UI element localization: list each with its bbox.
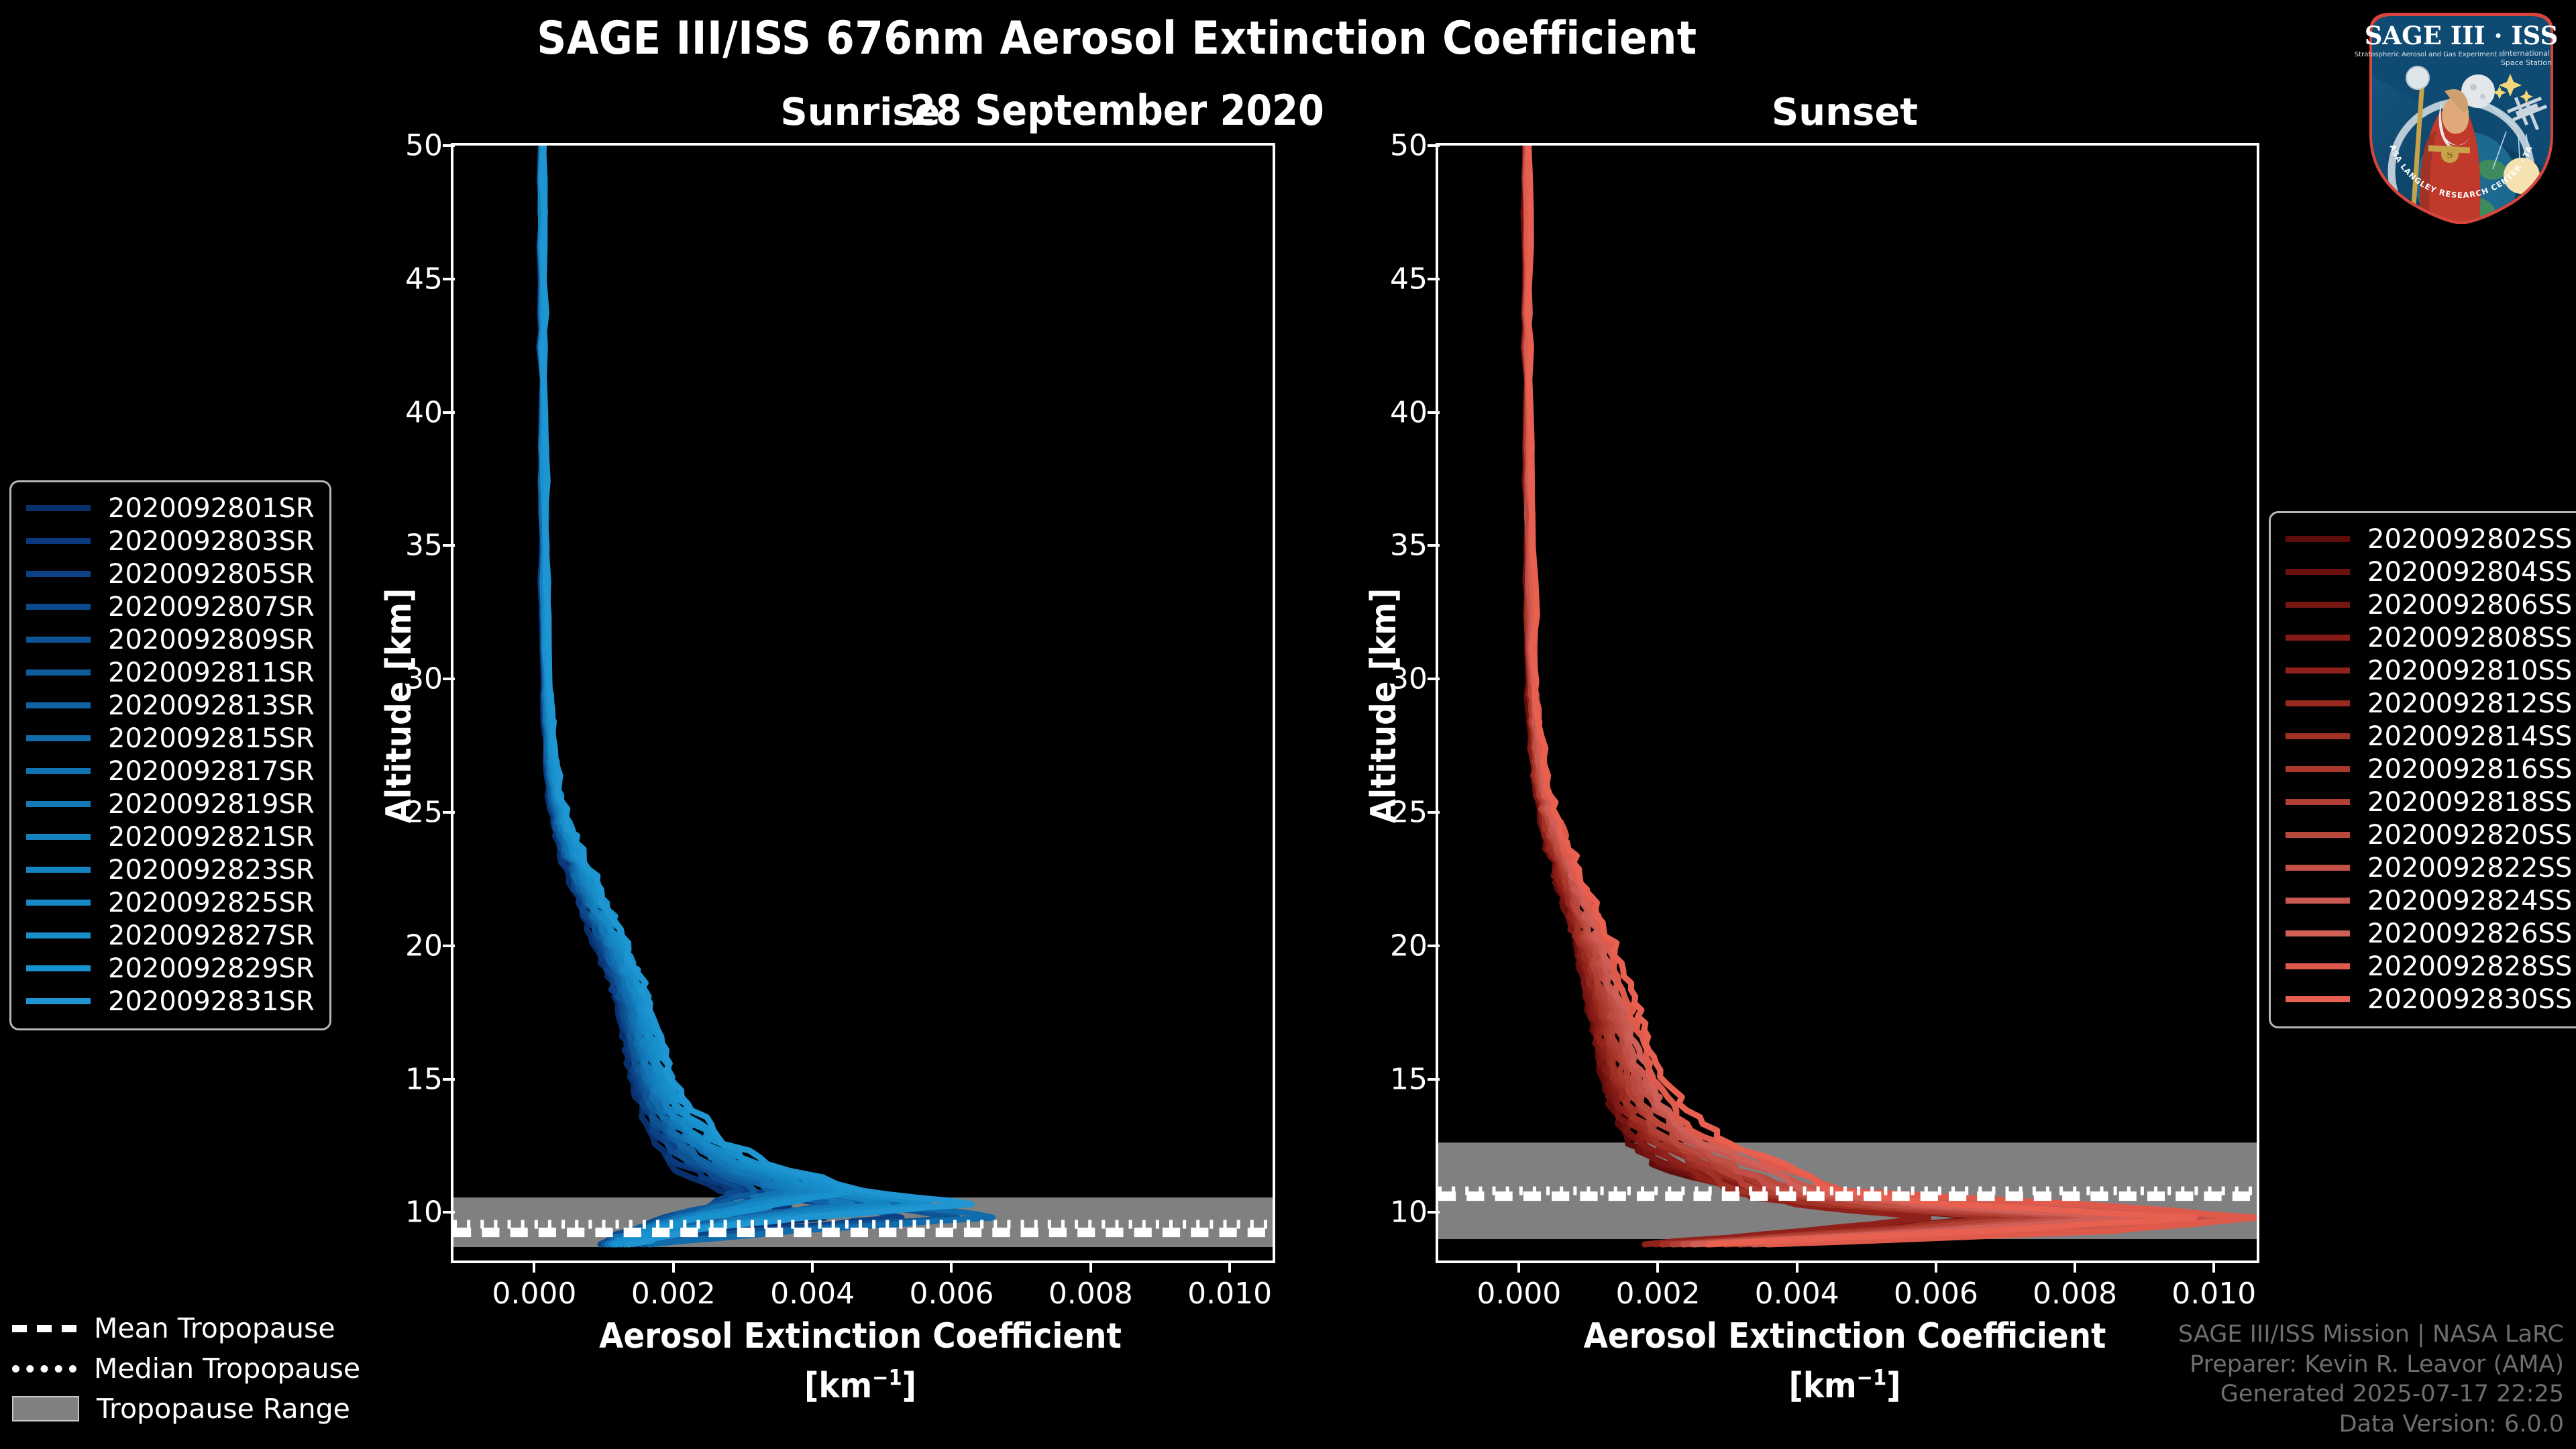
x-axis-title-sunrise: Aerosol Extinction Coefficient xyxy=(451,1316,1270,1356)
legend-color-swatch xyxy=(2286,865,2350,871)
x-tick-label: 0.008 xyxy=(2001,1277,2149,1311)
legend-color-swatch xyxy=(2286,799,2350,805)
profile-line xyxy=(541,146,888,1244)
legend-sunset-item[interactable]: 2020092806SS xyxy=(2286,588,2572,621)
legend-sunrise-item[interactable]: 2020092819SR xyxy=(26,788,315,820)
logo-title: SAGE III · ISS xyxy=(2365,21,2559,50)
legend-color-swatch xyxy=(26,637,91,643)
y-tick-label: 35 xyxy=(1347,529,1428,563)
y-tick-mark xyxy=(1428,1211,1440,1214)
legend-label: 2020092806SS xyxy=(2367,590,2572,621)
x-axis-units-sunrise: [km−1] xyxy=(451,1365,1270,1406)
legend-label: 2020092807SR xyxy=(108,592,315,623)
y-tick-mark xyxy=(443,1078,455,1081)
legend-label: 2020092813SR xyxy=(108,690,315,721)
legend-label: 2020092816SS xyxy=(2367,754,2572,785)
y-tick-mark xyxy=(1428,1078,1440,1081)
x-tick-label: 0.000 xyxy=(1445,1277,1593,1311)
x-tick-mark xyxy=(811,1260,814,1273)
y-tick-mark xyxy=(443,278,455,280)
profile-line xyxy=(541,146,930,1244)
profile-line xyxy=(1525,146,2236,1244)
legend-sunrise-item[interactable]: 2020092825SR xyxy=(26,886,315,919)
legend-dotted-swatch xyxy=(12,1365,76,1373)
panel-title-sunrise: Sunrise xyxy=(451,91,1270,134)
y-tick-mark xyxy=(1428,411,1440,414)
legend-label: 2020092825SR xyxy=(108,888,315,918)
legend-color-swatch xyxy=(26,571,91,577)
legend-sunrise-item[interactable]: 2020092813SR xyxy=(26,689,315,722)
legend-sunrise-item[interactable]: 2020092827SR xyxy=(26,919,315,952)
legend-label: 2020092815SR xyxy=(108,723,315,754)
legend-sunrise-item[interactable]: 2020092801SR xyxy=(26,492,315,525)
legend-color-swatch xyxy=(26,669,91,676)
legend-sunrise-item[interactable]: 2020092831SR xyxy=(26,985,315,1018)
profile-lines-sunrise xyxy=(453,146,1273,1260)
legend-color-swatch xyxy=(2286,635,2350,641)
x-tick-mark xyxy=(950,1260,953,1273)
credit-line: Generated 2025-07-17 22:25 xyxy=(2178,1379,2564,1409)
legend-label: 2020092828SS xyxy=(2367,951,2572,982)
profile-line xyxy=(543,146,849,1244)
legend-label: 2020092819SR xyxy=(108,789,315,820)
legend-label: 2020092829SR xyxy=(108,953,315,984)
y-tick-label: 40 xyxy=(1347,395,1428,429)
y-tick-mark xyxy=(443,1211,455,1214)
legend-sunset-item[interactable]: 2020092824SS xyxy=(2286,884,2572,917)
legend-sunset-item[interactable]: 2020092802SS xyxy=(2286,523,2572,555)
legend-sunrise-item[interactable]: 2020092823SR xyxy=(26,853,315,886)
legend-label: 2020092824SS xyxy=(2367,885,2572,916)
y-tick-mark xyxy=(1428,544,1440,547)
legend-color-swatch xyxy=(26,867,91,873)
legend-sunset-item[interactable]: 2020092814SS xyxy=(2286,720,2572,753)
legend-sunset-item[interactable]: 2020092816SS xyxy=(2286,753,2572,786)
profile-line xyxy=(541,146,993,1244)
legend-sunset-item[interactable]: 2020092830SS xyxy=(2286,983,2572,1016)
profile-line xyxy=(540,146,957,1244)
legend-sunset[interactable]: 2020092802SS2020092804SS2020092806SS2020… xyxy=(2269,511,2576,1028)
legend-color-swatch xyxy=(2286,898,2350,904)
profile-line xyxy=(1525,146,1929,1244)
legend-dashed-swatch xyxy=(12,1325,76,1332)
legend-label: 2020092802SS xyxy=(2367,524,2572,555)
logo-subtitle-right-1: International xyxy=(2503,49,2550,58)
legend-color-swatch xyxy=(2286,569,2350,575)
profile-line xyxy=(541,146,853,1244)
legend-sunrise-item[interactable]: 2020092803SR xyxy=(26,525,315,557)
legend-label: Mean Tropopause xyxy=(94,1312,335,1344)
legend-sunset-item[interactable]: 2020092808SS xyxy=(2286,621,2572,654)
y-tick-label: 15 xyxy=(1347,1062,1428,1096)
x-axis-sunrise: 0.0000.0020.0040.0060.0080.010 xyxy=(451,1260,1270,1307)
legend-sunrise[interactable]: 2020092801SR2020092803SR2020092805SR2020… xyxy=(9,480,331,1030)
sage-iii-iss-mission-patch-logo: S BALL · NASA LANGLEY RESEARCH CENTER · … xyxy=(2351,3,2572,224)
legend-color-swatch xyxy=(26,965,91,971)
y-tick-mark xyxy=(443,811,455,814)
credit-line: Preparer: Kevin R. Leavor (AMA) xyxy=(2178,1350,2564,1380)
profile-lines-sunset xyxy=(1438,146,2257,1260)
credits-block: SAGE III/ISS Mission | NASA LaRCPreparer… xyxy=(2178,1320,2564,1440)
x-tick-label: 0.010 xyxy=(2140,1277,2288,1311)
legend-color-swatch xyxy=(26,900,91,906)
y-tick-label: 50 xyxy=(1347,129,1428,163)
y-tick-mark xyxy=(443,544,455,547)
legend-color-swatch xyxy=(2286,766,2350,772)
legend-tropopause-item: Tropopause Range xyxy=(12,1389,360,1429)
plot-area-sunset xyxy=(1436,143,2259,1263)
y-tick-mark xyxy=(443,945,455,947)
y-tick-label: 20 xyxy=(362,928,443,963)
x-tick-mark xyxy=(1089,1260,1092,1273)
legend-color-swatch xyxy=(2286,733,2350,739)
logo-subtitle-right-2: Space Station xyxy=(2501,58,2552,67)
credit-line: Data Version: 6.0.0 xyxy=(2178,1409,2564,1440)
legend-label: 2020092826SS xyxy=(2367,918,2572,949)
profile-line xyxy=(1524,146,1984,1244)
x-tick-label: 0.006 xyxy=(877,1277,1025,1311)
y-tick-mark xyxy=(1428,144,1440,147)
legend-sunrise-item[interactable]: 2020092817SR xyxy=(26,755,315,788)
legend-sunset-item[interactable]: 2020092804SS xyxy=(2286,555,2572,588)
y-tick-label: 45 xyxy=(1347,262,1428,296)
legend-label: 2020092801SR xyxy=(108,493,315,524)
legend-color-swatch xyxy=(26,604,91,610)
legend-color-swatch xyxy=(2286,996,2350,1002)
legend-band-swatch xyxy=(12,1396,79,1421)
credit-line: SAGE III/ISS Mission | NASA LaRC xyxy=(2178,1320,2564,1350)
x-units-text-sunset: [km−1] xyxy=(1788,1366,1900,1406)
legend-color-swatch xyxy=(26,702,91,708)
legend-sunrise-item[interactable]: 2020092807SR xyxy=(26,590,315,623)
x-tick-label: 0.002 xyxy=(1584,1277,1731,1311)
x-tick-label: 0.004 xyxy=(739,1277,886,1311)
profile-line xyxy=(541,146,824,1244)
legend-sunrise-item[interactable]: 2020092809SR xyxy=(26,623,315,656)
x-tick-mark xyxy=(1656,1260,1659,1273)
page-title: SAGE III/ISS 676nm Aerosol Extinction Co… xyxy=(0,12,2234,65)
legend-sunset-item[interactable]: 2020092828SS xyxy=(2286,950,2572,983)
x-tick-mark xyxy=(1517,1260,1520,1273)
x-tick-label: 0.008 xyxy=(1017,1277,1165,1311)
y-tick-mark xyxy=(1428,678,1440,680)
legend-color-swatch xyxy=(2286,602,2350,608)
legend-color-swatch xyxy=(2286,832,2350,838)
legend-color-swatch xyxy=(2286,667,2350,674)
legend-sunrise-item[interactable]: 2020092815SR xyxy=(26,722,315,755)
y-tick-label: 15 xyxy=(362,1062,443,1096)
legend-color-swatch xyxy=(26,834,91,840)
x-tick-label: 0.000 xyxy=(460,1277,608,1311)
x-tick-label: 0.010 xyxy=(1156,1277,1303,1311)
legend-label: 2020092823SR xyxy=(108,855,315,885)
y-tick-mark xyxy=(1428,811,1440,814)
legend-label: 2020092809SR xyxy=(108,625,315,655)
legend-label: 2020092831SR xyxy=(108,986,315,1017)
y-tick-label: 20 xyxy=(1347,928,1428,963)
legend-color-swatch xyxy=(26,768,91,774)
x-axis-units-sunset: [km−1] xyxy=(1436,1365,2254,1406)
legend-label: Tropopause Range xyxy=(97,1393,350,1425)
legend-sunset-item[interactable]: 2020092818SS xyxy=(2286,786,2572,818)
legend-sunset-item[interactable]: 2020092810SS xyxy=(2286,654,2572,687)
legend-label: Median Tropopause xyxy=(94,1352,360,1385)
legend-sunset-item[interactable]: 2020092820SS xyxy=(2286,818,2572,851)
x-tick-mark xyxy=(1796,1260,1799,1273)
legend-tropopause-item: Median Tropopause xyxy=(12,1348,360,1389)
y-tick-mark xyxy=(443,678,455,680)
x-tick-mark xyxy=(1228,1260,1231,1273)
profile-line xyxy=(542,146,971,1244)
legend-color-swatch xyxy=(26,735,91,741)
legend-label: 2020092810SS xyxy=(2367,655,2572,686)
x-axis-sunset: 0.0000.0020.0040.0060.0080.010 xyxy=(1436,1260,2254,1307)
legend-label: 2020092814SS xyxy=(2367,721,2572,752)
profile-line xyxy=(541,146,832,1244)
legend-color-swatch xyxy=(2286,963,2350,969)
profile-line xyxy=(540,146,902,1244)
legend-label: 2020092808SS xyxy=(2367,623,2572,653)
legend-color-swatch xyxy=(2286,536,2350,542)
x-units-text-sunrise: [km−1] xyxy=(804,1366,916,1406)
y-axis-title-sunset: Altitude [km] xyxy=(1364,588,1404,823)
y-tick-mark xyxy=(443,144,455,147)
legend-sunrise-item[interactable]: 2020092805SR xyxy=(26,557,315,590)
x-tick-mark xyxy=(533,1260,535,1273)
plot-area-sunrise xyxy=(451,143,1275,1263)
legend-color-swatch xyxy=(2286,930,2350,936)
legend-label: 2020092827SR xyxy=(108,920,315,951)
legend-sunset-item[interactable]: 2020092822SS xyxy=(2286,851,2572,884)
legend-color-swatch xyxy=(26,998,91,1004)
profile-line xyxy=(1525,146,2012,1244)
y-tick-label: 10 xyxy=(362,1195,443,1230)
y-tick-label: 45 xyxy=(362,262,443,296)
x-tick-mark xyxy=(2212,1260,2215,1273)
legend-color-swatch xyxy=(2286,700,2350,706)
legend-label: 2020092820SS xyxy=(2367,820,2572,851)
x-axis-title-sunset: Aerosol Extinction Coefficient xyxy=(1436,1316,2254,1356)
profile-line xyxy=(539,146,824,1244)
legend-label: 2020092811SR xyxy=(108,657,315,688)
x-tick-label: 0.002 xyxy=(600,1277,747,1311)
logo-subtitle-left: Stratospheric Aerosol and Gas Experiment… xyxy=(2355,51,2505,58)
legend-color-swatch xyxy=(26,932,91,938)
x-tick-mark xyxy=(672,1260,675,1273)
x-tick-mark xyxy=(1935,1260,1937,1273)
legend-sunset-item[interactable]: 2020092826SS xyxy=(2286,917,2572,950)
legend-sunrise-item[interactable]: 2020092811SR xyxy=(26,656,315,689)
legend-label: 2020092821SR xyxy=(108,822,315,853)
legend-color-swatch xyxy=(26,538,91,544)
legend-sunrise-item[interactable]: 2020092829SR xyxy=(26,952,315,985)
legend-tropopause: Mean TropopauseMedian TropopauseTropopau… xyxy=(12,1308,360,1429)
legend-color-swatch xyxy=(26,801,91,807)
panel-title-sunset: Sunset xyxy=(1436,91,2254,134)
y-tick-label: 40 xyxy=(362,395,443,429)
x-tick-mark xyxy=(2074,1260,2076,1273)
legend-label: 2020092818SS xyxy=(2367,787,2572,818)
legend-tropopause-item: Mean Tropopause xyxy=(12,1308,360,1348)
legend-color-swatch xyxy=(26,505,91,511)
legend-label: 2020092830SS xyxy=(2367,984,2572,1015)
x-tick-label: 0.006 xyxy=(1862,1277,2010,1311)
legend-label: 2020092822SS xyxy=(2367,853,2572,883)
legend-sunset-item[interactable]: 2020092812SS xyxy=(2286,687,2572,720)
legend-label: 2020092805SR xyxy=(108,559,315,590)
legend-label: 2020092804SS xyxy=(2367,557,2572,588)
x-tick-label: 0.004 xyxy=(1723,1277,1871,1311)
y-tick-label: 10 xyxy=(1347,1195,1428,1230)
y-axis-title-sunrise: Altitude [km] xyxy=(379,588,419,823)
legend-label: 2020092812SS xyxy=(2367,688,2572,719)
y-tick-mark xyxy=(1428,278,1440,280)
legend-label: 2020092803SR xyxy=(108,526,315,557)
y-tick-label: 50 xyxy=(362,129,443,163)
y-tick-mark xyxy=(443,411,455,414)
y-tick-mark xyxy=(1428,945,1440,947)
legend-sunrise-item[interactable]: 2020092821SR xyxy=(26,820,315,853)
legend-label: 2020092817SR xyxy=(108,756,315,787)
y-tick-label: 35 xyxy=(362,529,443,563)
